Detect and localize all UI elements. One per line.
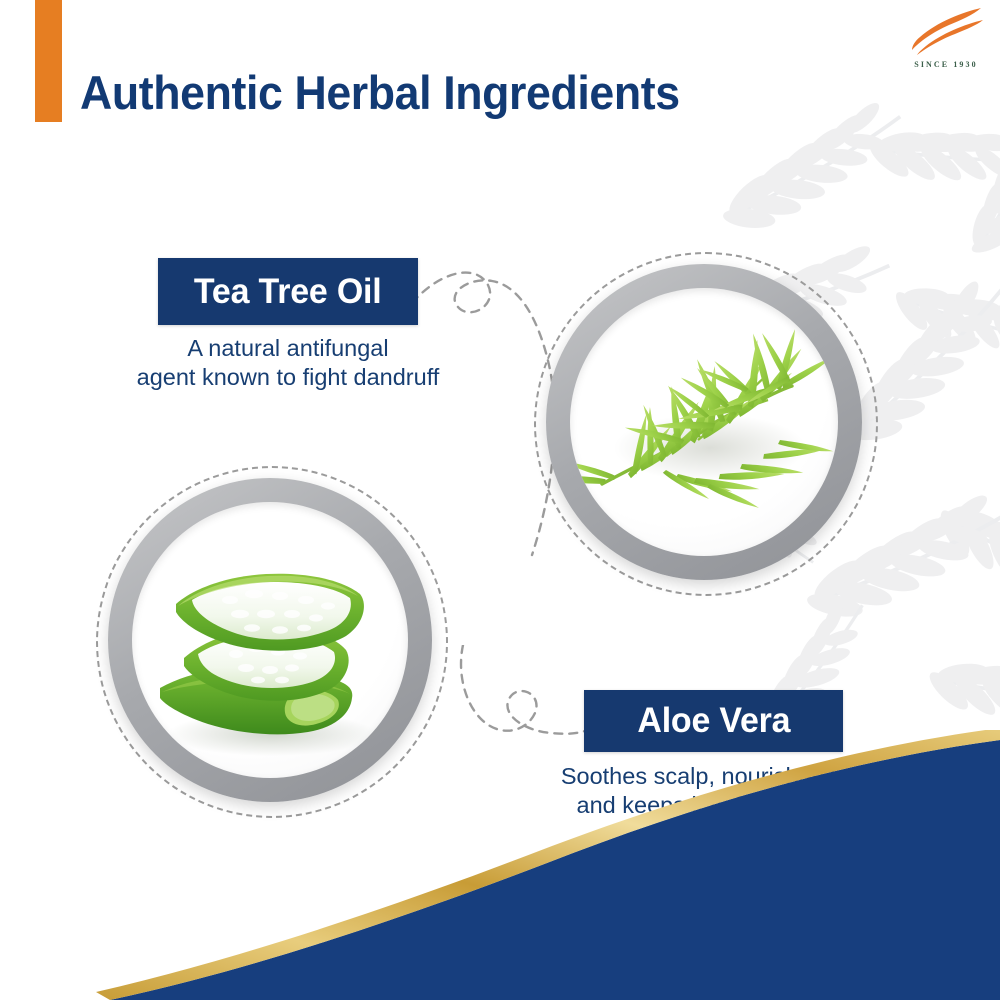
flame-leaf-logo-icon — [907, 6, 985, 56]
tea-tree-description-line-2: agent known to fight dandruff — [82, 363, 494, 392]
gold-navy-wave-divider — [0, 730, 1000, 1000]
tea-tree-description: A natural antifungal agent known to figh… — [82, 334, 494, 392]
accent-bar — [35, 0, 62, 122]
ingredients-poster: Authentic Herbal Ingredients SINCE 1930 — [0, 0, 1000, 1000]
tea-tree-image — [570, 288, 838, 556]
tea-tree-label-chip: Tea Tree Oil — [158, 258, 418, 325]
page-title: Authentic Herbal Ingredients — [80, 69, 680, 116]
brand-tagline: SINCE 1930 — [900, 60, 992, 69]
tea-tree-description-line-1: A natural antifungal — [82, 334, 494, 363]
brand-logo: SINCE 1930 — [900, 6, 992, 82]
tea-tree-label: Tea Tree Oil — [194, 272, 382, 312]
